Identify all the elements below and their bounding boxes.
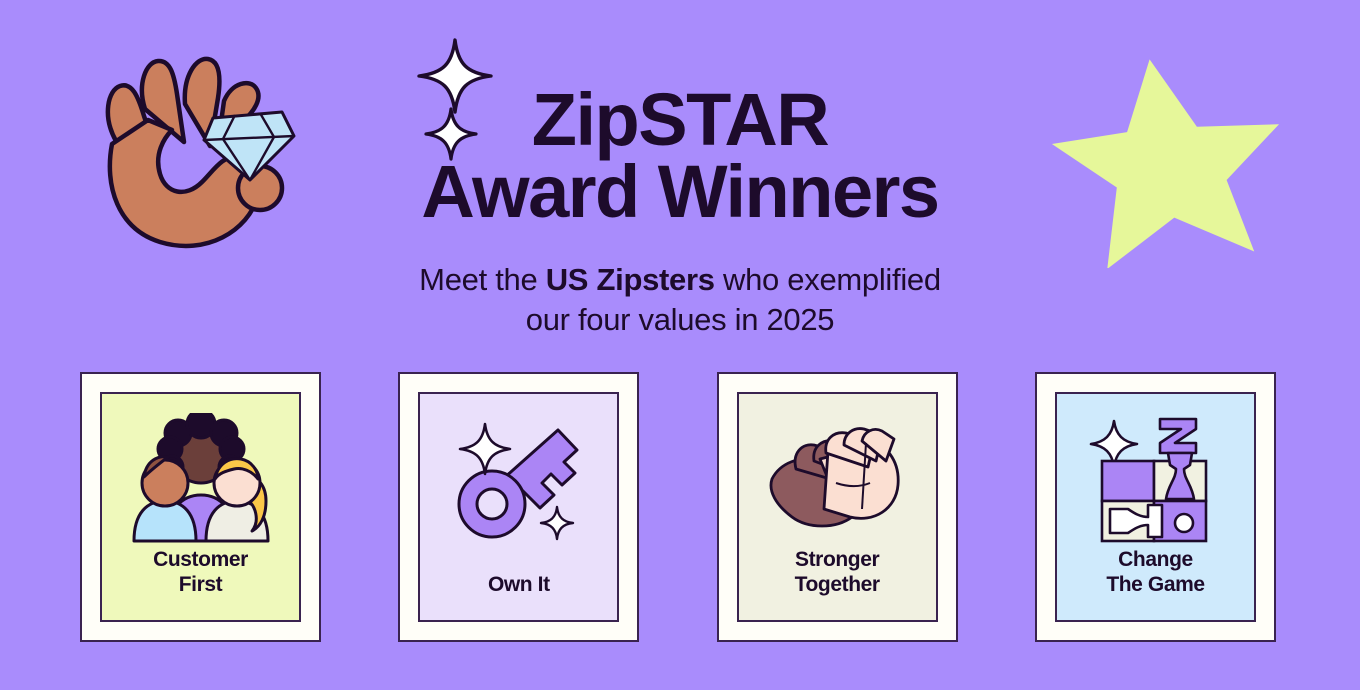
value-card-label-line-1: Own It	[488, 573, 550, 598]
value-card-label-line-2: First	[153, 573, 248, 598]
value-card-label-line-2: The Game	[1106, 573, 1204, 598]
clasped-hands-icon	[762, 410, 912, 548]
value-card-panel: Stronger Together	[737, 392, 938, 622]
value-card-list: Customer First	[80, 372, 1276, 642]
value-card-label-line-1: Stronger	[795, 548, 880, 573]
value-card-stronger-together[interactable]: Stronger Together	[717, 372, 958, 642]
value-card-customer-first[interactable]: Customer First	[80, 372, 321, 642]
value-card-panel: Own It	[418, 392, 619, 622]
value-card-own-it[interactable]: Own It	[398, 372, 639, 642]
value-card-label-line-2: Together	[795, 573, 880, 598]
value-card-label: Change The Game	[1100, 548, 1210, 598]
value-card-label-line-1: Change	[1106, 548, 1204, 573]
page-subtitle-line-2: our four values in 2025	[0, 300, 1360, 340]
value-card-panel: Change The Game	[1055, 392, 1256, 622]
poster-canvas: ZipSTAR Award Winners Meet the US Zipste…	[0, 0, 1360, 690]
subtitle-emphasis: US Zipsters	[546, 262, 715, 297]
page-title-line-1: ZipSTAR	[0, 84, 1360, 156]
value-card-label: Customer First	[147, 548, 254, 598]
page-subtitle: Meet the US Zipsters who exemplified our…	[0, 260, 1360, 341]
value-card-panel: Customer First	[100, 392, 301, 622]
value-card-change-the-game[interactable]: Change The Game	[1035, 372, 1276, 642]
key-icon	[444, 410, 594, 550]
subtitle-text-after: who exemplified	[715, 262, 941, 297]
three-people-icon	[126, 410, 276, 548]
subtitle-text-before: Meet the	[419, 262, 546, 297]
chessboard-icon	[1080, 410, 1230, 548]
page-title: ZipSTAR Award Winners	[0, 84, 1360, 228]
page-subtitle-line-1: Meet the US Zipsters who exemplified	[0, 260, 1360, 300]
value-card-label: Stronger Together	[789, 548, 886, 598]
page-title-line-2: Award Winners	[0, 156, 1360, 228]
value-card-label: Own It	[482, 573, 556, 598]
value-card-label-line-1: Customer	[153, 548, 248, 573]
